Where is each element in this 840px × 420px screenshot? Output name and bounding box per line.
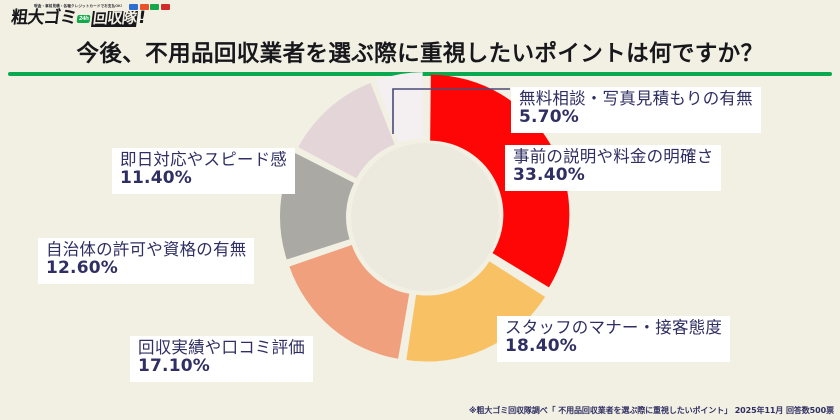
brand-logo[interactable]: 現金・事前見積・各種クレジットカードでお支払OK! 粗大ゴミ 24h 回収隊 ! <box>8 2 188 28</box>
callout-price-clarity[interactable]: 事前の説明や料金の明確さ 33.40% <box>505 145 721 191</box>
wordmark-24h-badge: 24h <box>77 15 91 23</box>
callout-license-permit[interactable]: 自治体の許可や資格の有無 12.60% <box>38 238 254 284</box>
callout-value: 33.40% <box>513 166 713 185</box>
callout-value: 12.60% <box>46 259 246 278</box>
callout-label: 即日対応やスピード感 <box>120 151 287 169</box>
callout-label: 事前の説明や料金の明確さ <box>513 148 713 166</box>
donut-center-hole <box>351 143 499 291</box>
callout-value: 18.40% <box>505 337 722 356</box>
callout-staff-manner[interactable]: スタッフのマナー・接客態度 18.40% <box>497 316 730 362</box>
callout-label: スタッフのマナー・接客態度 <box>505 319 722 337</box>
payment-badge-amex <box>161 4 170 10</box>
callout-label: 回収実績や口コミ評価 <box>138 339 305 357</box>
callout-value: 5.70% <box>519 108 753 127</box>
callout-label: 無料相談・写真見積もりの有無 <box>519 90 753 108</box>
wordmark-kaishutai: 回収隊 <box>91 11 138 27</box>
brand-wordmark: 粗大ゴミ 24h 回収隊 ! <box>11 10 145 27</box>
callout-value: 11.40% <box>120 169 287 188</box>
callout-label: 自治体の許可や資格の有無 <box>46 241 246 259</box>
payment-badge-jcb <box>150 4 159 10</box>
callout-track-record-reviews[interactable]: 回収実績や口コミ評価 17.10% <box>130 336 313 382</box>
callout-value: 17.10% <box>138 357 305 376</box>
callout-free-consultation[interactable]: 無料相談・写真見積もりの有無 5.70% <box>511 87 761 133</box>
source-footnote: ※粗大ゴミ回収隊調べ「 不用品回収業者を選ぶ際に重視したいポイント」 2025年… <box>469 405 834 416</box>
wordmark-exclamation: ! <box>137 10 146 27</box>
wordmark-sodai-gomi: 粗大ゴミ <box>10 10 77 27</box>
callout-same-day-speed[interactable]: 即日対応やスピード感 11.40% <box>112 148 295 194</box>
